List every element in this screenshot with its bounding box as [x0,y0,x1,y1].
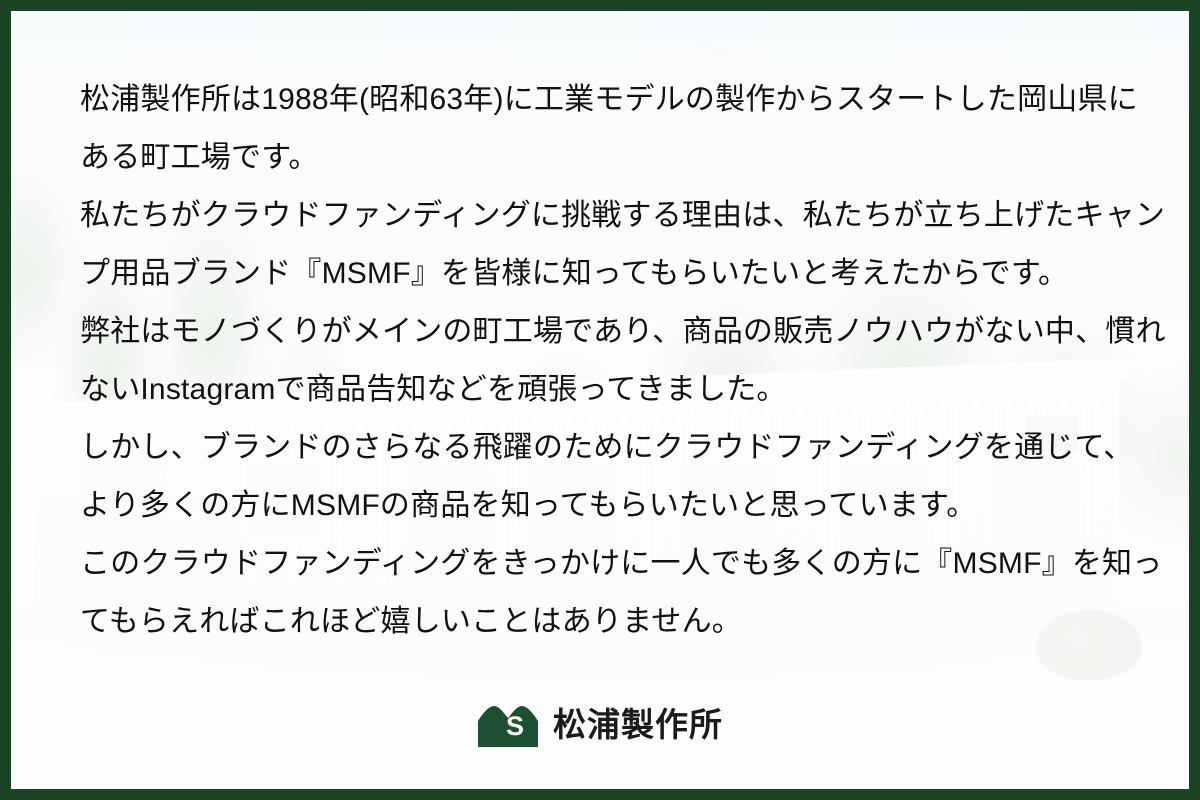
copy-line: ないInstagramで商品告知などを頑張ってきました。 [80,361,1131,419]
company-name: 松浦製作所 [553,708,723,741]
copy-line: 弊社はモノづくりがメインの町工場であり、商品の販売ノウハウがない中、慣れ [80,303,1131,361]
copy-line: ある町工場です。 [80,129,1131,187]
copy-line: 私たちがクラウドファンディングに挑戦する理由は、私たちが立ち上げたキャン [80,187,1131,245]
mountain-house-icon: S [477,701,539,747]
logo-letter: S [506,711,524,741]
copy-line: 松浦製作所は1988年(昭和63年)に工業モデルの製作からスタートした岡山県に [80,71,1131,129]
body-copy: 松浦製作所は1988年(昭和63年)に工業モデルの製作からスタートした岡山県に … [80,71,1131,651]
copy-line: このクラウドファンディングをきっかけに一人でも多くの方に『MSMF』を知っ [80,535,1131,593]
copy-line: しかし、ブランドのさらなる飛躍のためにクラウドファンディングを通じて、 [80,419,1131,477]
copy-line: より多くの方にMSMFの商品を知ってもらいたいと思っています。 [80,477,1131,535]
copy-line: プ用品ブランド『MSMF』を皆様に知ってもらいたいと考えたからです。 [80,245,1131,303]
company-logo: S 松浦製作所 [11,701,1189,747]
poster-frame: 松浦製作所は1988年(昭和63年)に工業モデルの製作からスタートした岡山県に … [0,0,1200,800]
copy-line: てもらえればこれほど嬉しいことはありません。 [80,593,1131,651]
